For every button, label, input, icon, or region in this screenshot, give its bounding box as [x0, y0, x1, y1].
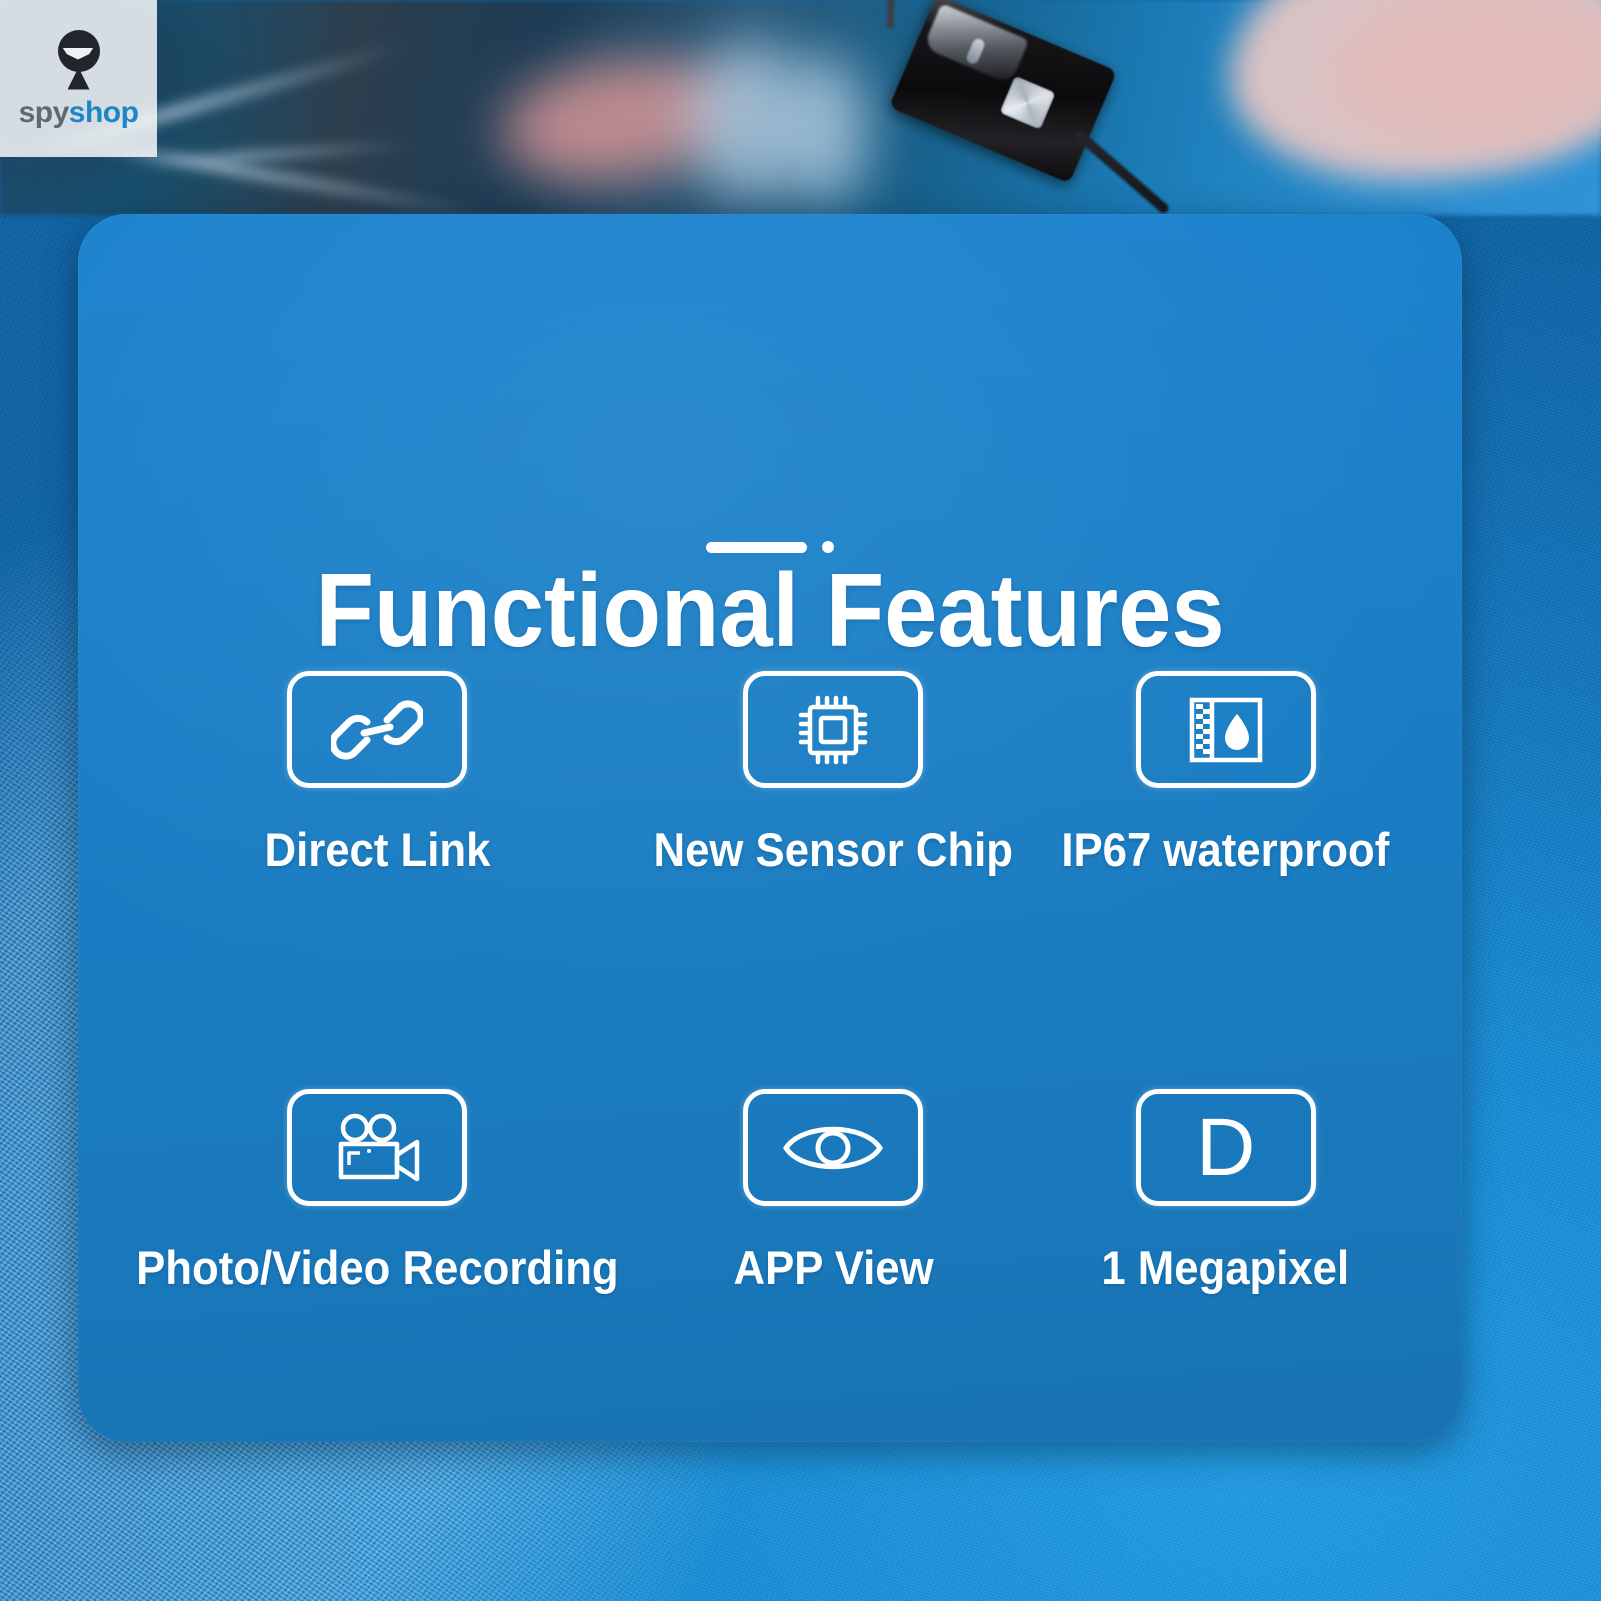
feature-icon-box: [743, 1089, 923, 1206]
feature-icon-box: [287, 1089, 467, 1206]
logo-body-shape: [68, 68, 90, 90]
feature-label: IP67 waterproof: [1062, 826, 1390, 873]
background-blurred-hand-secondary: [1330, 0, 1601, 150]
feature-item-waterproof: IP67 waterproof: [1029, 671, 1422, 873]
brand-wordmark-shop: shop: [69, 96, 139, 129]
feature-card: Functional Features Direct Link: [78, 214, 1462, 1442]
brand-wordmark-spy: spy: [19, 96, 69, 129]
background-blur-blob-light-b: [780, 55, 870, 205]
divider-dot: [822, 541, 834, 553]
feature-label: APP View: [733, 1244, 933, 1291]
waterproof-icon: [1184, 692, 1268, 768]
feature-label: Direct Link: [264, 826, 490, 873]
brand-watermark: spyshop: [0, 0, 157, 157]
feature-icon-box: [743, 671, 923, 788]
feature-icon-box: [1136, 671, 1316, 788]
feature-item-direct-link: Direct Link: [118, 671, 637, 873]
title-divider: [78, 541, 1462, 553]
brand-wordmark: spyshop: [19, 98, 139, 128]
divider-bar: [706, 542, 807, 553]
link-icon: [331, 694, 423, 766]
video-camera-icon: [329, 1111, 425, 1185]
eye-icon: [780, 1115, 886, 1181]
chip-icon: [794, 691, 872, 769]
feature-icon-box: [287, 671, 467, 788]
feature-label: 1 Megapixel: [1102, 1244, 1350, 1291]
feature-label: Photo/Video Recording: [136, 1244, 618, 1291]
feature-item-megapixel: D 1 Megapixel: [1029, 1089, 1422, 1291]
feature-item-app-view: APP View: [637, 1089, 1030, 1291]
feature-grid: Direct Link Ne: [118, 671, 1422, 1291]
feature-label: New Sensor Chip: [653, 826, 1012, 873]
feature-item-sensor-chip: New Sensor Chip: [637, 671, 1030, 873]
letter-d-icon: D: [1196, 1107, 1255, 1189]
page-title: Functional Features: [133, 559, 1406, 663]
feature-item-photo-video: Photo/Video Recording: [118, 1089, 637, 1291]
feature-icon-box: D: [1136, 1089, 1316, 1206]
spy-character-icon: [50, 30, 108, 94]
product-feature-image: spyshop Functional Features: [0, 0, 1601, 1601]
